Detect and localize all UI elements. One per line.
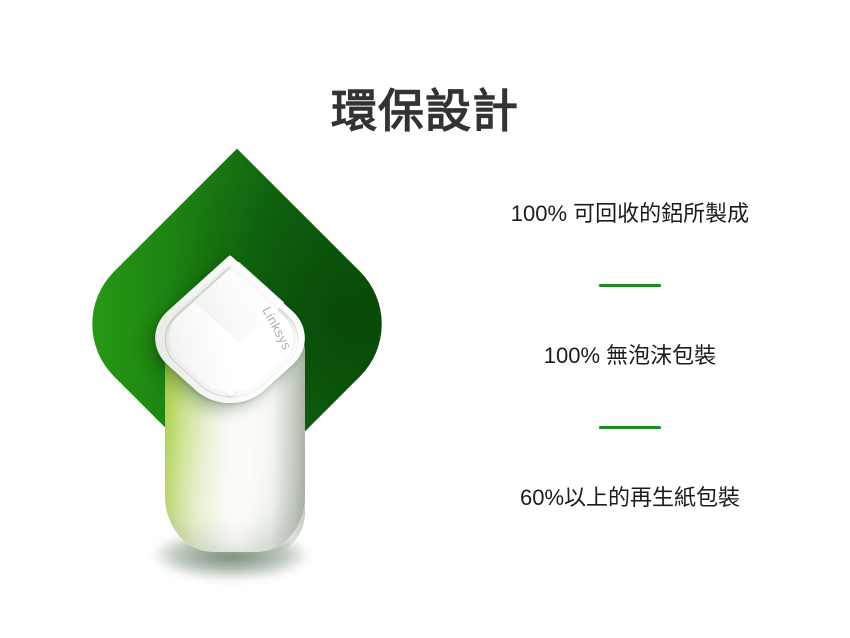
feature-divider-2 xyxy=(450,372,810,482)
page-title: 環保設計 xyxy=(0,83,850,139)
router-top-cap: Linksys xyxy=(156,270,314,422)
feature-item-foam-free-packaging: 100% 無泡沫包裝 xyxy=(450,340,810,372)
feature-divider-1 xyxy=(450,230,810,340)
feature-list: 100% 可回收的鋁所製成 100% 無泡沫包裝 60%以上的再生紙包裝 xyxy=(450,170,810,514)
eco-design-panel: 環保設計 Linksys 100% 可回收的鋁所製成 xyxy=(0,0,850,638)
product-router: Linksys xyxy=(148,270,318,560)
feature-item-recycled-aluminium: 100% 可回收的鋁所製成 xyxy=(450,198,810,230)
hero-visual: Linksys xyxy=(40,160,450,580)
feature-item-recycled-paper-packaging: 60%以上的再生紙包裝 xyxy=(450,482,810,514)
divider-rule xyxy=(599,284,661,287)
router-status-led xyxy=(227,388,235,396)
divider-rule xyxy=(599,426,661,429)
